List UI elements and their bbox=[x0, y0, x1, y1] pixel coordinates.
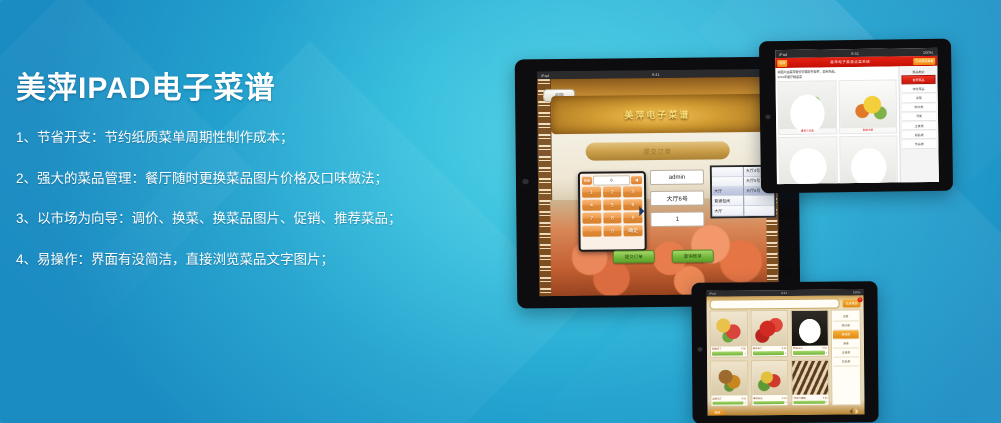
dish-price: ￥20 bbox=[822, 395, 827, 399]
keypad-key[interactable]: 7 bbox=[582, 213, 601, 224]
view-ordered-button[interactable]: 已点菜品查看 bbox=[913, 57, 935, 64]
home-button-icon[interactable] bbox=[765, 113, 771, 119]
login-fields: admin 大厅6号 1 bbox=[650, 170, 705, 234]
dish-name: 青椒肉丝 bbox=[753, 396, 763, 400]
backspace-icon[interactable]: ◀ bbox=[631, 176, 642, 184]
tablet-device-main: iPad 9:41 100% 返回 美萍电子菜谱 提交订单 bbox=[515, 57, 801, 309]
bottom-right-tablet-screen: iPad 9:41 100% 已点菜品 5 bbox=[706, 289, 864, 415]
promo-banner: 美萍IPAD电子菜谱 1、节省开支：节约纸质菜单周期性制作成本； 2、强大的菜品… bbox=[0, 0, 1001, 423]
dish-actions: 1 bbox=[792, 350, 828, 355]
add-to-cart-button[interactable] bbox=[712, 352, 743, 356]
dish-card[interactable]: 香煎三文鱼 bbox=[778, 80, 837, 134]
dish-qty: 1 bbox=[785, 351, 786, 354]
dish-card[interactable]: 精品点心 ￥16 1 bbox=[791, 310, 829, 357]
category-item-recommended[interactable]: 推荐菜品 bbox=[901, 75, 935, 85]
dish-card[interactable]: 巧克力蛋糕 ￥20 1 bbox=[791, 359, 829, 406]
dish-qty: 1 bbox=[826, 401, 827, 404]
dish-card[interactable]: 红豆沙布丁 bbox=[778, 136, 837, 184]
dish-grid: 本图片由美萍餐饮管理软件提供，最新热品。 2012年餐厅精品菜 香煎三文鱼 彩椒… bbox=[775, 66, 900, 184]
keypad-key[interactable]: 0 bbox=[603, 225, 622, 236]
checkout-button[interactable]: 结账 bbox=[710, 410, 724, 416]
dish-image bbox=[752, 360, 788, 395]
dish-image bbox=[779, 81, 836, 133]
category-sidebar: 菜品类别 推荐菜品 特色菜品 凉菜 热炒类 汤类 主食类 甜品类 饮品类 bbox=[898, 66, 939, 184]
status-time: 9:41 bbox=[781, 291, 787, 295]
page-title: 美萍IPAD电子菜谱 bbox=[16, 72, 486, 105]
category-item[interactable]: 热炒类 bbox=[833, 321, 859, 330]
dish-name: 辣子鸡丁 bbox=[753, 346, 763, 350]
status-battery: 100% bbox=[923, 49, 933, 54]
dish-image bbox=[839, 80, 896, 132]
category-item[interactable]: 饮品类 bbox=[833, 357, 859, 366]
dish-qty: 1 bbox=[745, 401, 746, 404]
category-item-active[interactable]: 推荐菜 bbox=[833, 330, 859, 339]
category-item[interactable]: 饮品类 bbox=[902, 140, 936, 149]
status-carrier: iPad bbox=[779, 51, 787, 56]
dropdown-cell[interactable] bbox=[712, 167, 743, 177]
status-battery: 100% bbox=[853, 290, 861, 294]
user-field[interactable]: admin bbox=[650, 170, 704, 186]
category-item[interactable]: 汤类 bbox=[902, 113, 936, 122]
add-to-cart-button[interactable] bbox=[712, 401, 743, 405]
dish-card[interactable]: 青椒肉丝 ￥24 1 bbox=[751, 359, 789, 406]
dish-name: 彩椒牛柳 bbox=[840, 127, 897, 133]
app-title: 美萍电子菜谱 bbox=[624, 107, 690, 121]
submit-order-button[interactable]: 提交订单 bbox=[613, 250, 655, 263]
dish-name: 巧克力蛋糕 bbox=[794, 395, 806, 399]
dish-actions: 1 bbox=[752, 400, 788, 405]
feature-bullet-3: 3、以市场为向导：调价、换菜、换菜品图片、促销、推荐菜品； bbox=[16, 212, 486, 226]
dish-price: ￥16 bbox=[822, 346, 827, 350]
feature-bullet-2: 2、强大的菜品管理：餐厅随时更换菜品图片价格及口味做法； bbox=[16, 172, 486, 186]
status-carrier: iPad bbox=[709, 292, 715, 296]
category-item[interactable]: 热炒类 bbox=[902, 103, 936, 112]
home-button-icon[interactable] bbox=[522, 177, 529, 184]
keypad-key[interactable]: 3 bbox=[623, 186, 642, 197]
keypad-key[interactable]: 2 bbox=[603, 186, 622, 197]
sub-title: 提交订单 bbox=[644, 146, 672, 155]
keypad-grid: 1 2 3 4 5 6 7 8 9 · 0 确定 bbox=[582, 186, 643, 237]
table-field[interactable]: 大厅6号 bbox=[650, 191, 704, 207]
dish-actions: 1 bbox=[711, 351, 747, 356]
dish-price: ￥28 bbox=[741, 346, 746, 350]
dish-qty: 1 bbox=[785, 401, 786, 404]
status-time: 9:41 bbox=[652, 71, 660, 76]
dropdown-area-column: 大厅 普通包间 大厅 bbox=[712, 167, 744, 216]
category-item[interactable]: 特色菜品 bbox=[902, 85, 936, 94]
dish-card[interactable]: 辣子鸡丁 ￥32 1 bbox=[750, 310, 788, 357]
bottom-toolbar: 结账 bbox=[710, 407, 861, 415]
feature-bullet-4: 4、易操作：界面有没简洁，直接浏览菜品文字图片； bbox=[16, 253, 486, 267]
cart-count-badge: 5 bbox=[858, 297, 863, 302]
main-tablet-screen: iPad 9:41 100% 返回 美萍电子菜谱 提交订单 bbox=[537, 69, 779, 297]
header-title: 美萍电子菜谱点菜系统 bbox=[787, 59, 913, 66]
keypad-value[interactable]: 6 bbox=[593, 175, 630, 185]
dish-card[interactable]: 宫保鸡丁 ￥26 1 bbox=[710, 360, 748, 407]
keypad-key[interactable]: 8 bbox=[603, 212, 622, 223]
dropdown-cell[interactable]: 普通包间 bbox=[712, 196, 743, 206]
add-to-cart-button[interactable] bbox=[794, 400, 825, 404]
dropdown-cell[interactable] bbox=[712, 177, 743, 187]
action-buttons: 提交订单 查询账单 bbox=[613, 249, 723, 263]
promo-copy: 美萍IPAD电子菜谱 1、节省开支：节约纸质菜单周期性制作成本； 2、强大的菜品… bbox=[16, 72, 486, 293]
top-right-tablet-screen: iPad 9:41 100% 返回 美萍电子菜谱点菜系统 已点菜品查看 本图片由… bbox=[775, 48, 939, 184]
promo-note: 本图片由美萍餐饮管理软件提供，最新热品。 2012年餐厅精品菜 bbox=[777, 68, 896, 79]
keypad-key-confirm[interactable]: 确定 bbox=[624, 225, 643, 236]
promo-note-line2: 2012年餐厅精品菜 bbox=[777, 73, 896, 79]
menu-body: 本图片由美萍餐饮管理软件提供，最新热品。 2012年餐厅精品菜 香煎三文鱼 彩椒… bbox=[775, 66, 939, 184]
category-item[interactable]: 主食类 bbox=[833, 348, 859, 357]
tablet-device-bottom-right: iPad 9:41 100% 已点菜品 5 bbox=[691, 281, 878, 423]
order-login-app: 返回 美萍电子菜谱 提交订单 数量 6 ◀ 1 bbox=[537, 77, 779, 297]
category-item[interactable]: 凉菜 bbox=[902, 94, 936, 103]
dish-price: ￥32 bbox=[781, 346, 786, 350]
dish-image bbox=[711, 361, 747, 396]
dish-actions: 1 bbox=[752, 350, 788, 355]
category-sidebar: 凉菜 热炒类 推荐菜 汤类 主食类 饮品类 bbox=[831, 309, 862, 405]
keypad-key[interactable]: 4 bbox=[582, 200, 601, 211]
dish-card[interactable]: 水果沙拉 bbox=[839, 135, 898, 184]
add-to-cart-button[interactable] bbox=[753, 401, 784, 405]
search-input[interactable] bbox=[710, 298, 840, 309]
dish-card[interactable]: 咖喱鸡丁 ￥28 1 bbox=[710, 310, 748, 357]
prev-page-icon[interactable] bbox=[846, 408, 852, 414]
dish-image bbox=[792, 360, 828, 395]
keypad-tag: 数量 bbox=[582, 176, 592, 184]
dish-qty: 1 bbox=[826, 351, 827, 354]
dish-image bbox=[792, 311, 828, 346]
dish-actions: 1 bbox=[711, 400, 747, 405]
cart-button[interactable]: 已点菜品 5 bbox=[843, 299, 861, 307]
dish-name: 香煎三文鱼 bbox=[779, 128, 836, 134]
category-item[interactable]: 甜品类 bbox=[902, 131, 936, 140]
dish-name: 水果沙拉 bbox=[840, 182, 897, 184]
dish-grid: 咖喱鸡丁 ￥28 1 辣子鸡丁 ￥3 bbox=[710, 310, 830, 407]
dish-price: ￥24 bbox=[782, 395, 787, 399]
pagination-controls bbox=[846, 408, 861, 414]
next-page-icon[interactable] bbox=[855, 408, 861, 414]
top-toolbar: 已点菜品 5 bbox=[710, 298, 861, 308]
dish-name: 咖喱鸡丁 bbox=[712, 347, 722, 351]
home-button-icon[interactable] bbox=[697, 346, 703, 352]
browser-body: 咖喱鸡丁 ￥28 1 辣子鸡丁 ￥3 bbox=[710, 309, 862, 406]
dish-name: 宫保鸡丁 bbox=[712, 396, 722, 400]
dropdown-cell[interactable] bbox=[743, 196, 774, 206]
dish-name: 红豆沙布丁 bbox=[780, 183, 837, 184]
dish-card[interactable]: 彩椒牛柳 bbox=[838, 79, 897, 133]
dropdown-cell-selected[interactable]: 大厅 bbox=[712, 187, 743, 197]
category-item[interactable]: 汤类 bbox=[833, 339, 859, 348]
numeric-keypad[interactable]: 数量 6 ◀ 1 2 3 4 5 6 7 8 9 · bbox=[578, 171, 647, 252]
dish-price: ￥26 bbox=[741, 396, 746, 400]
dish-qty: 1 bbox=[744, 352, 745, 355]
keypad-key[interactable]: 5 bbox=[603, 199, 622, 210]
dish-image bbox=[751, 311, 787, 346]
count-field[interactable]: 1 bbox=[650, 212, 704, 228]
status-time: 9:41 bbox=[851, 50, 859, 55]
header-back-button[interactable]: 返回 bbox=[777, 59, 787, 66]
keypad-key[interactable]: 1 bbox=[582, 187, 601, 198]
add-to-cart-button[interactable] bbox=[753, 351, 784, 355]
status-carrier: iPad bbox=[541, 73, 549, 78]
dropdown-cell[interactable]: 大厅 bbox=[712, 206, 743, 216]
add-to-cart-button[interactable] bbox=[793, 351, 824, 355]
dish-image bbox=[711, 311, 747, 346]
query-bill-button[interactable]: 查询账单 bbox=[672, 249, 714, 262]
dish-browser-app: 已点菜品 5 咖喱鸡丁 ￥28 bbox=[707, 295, 865, 415]
dish-image bbox=[779, 137, 836, 184]
category-item[interactable]: 主食类 bbox=[902, 122, 936, 131]
sub-title-banner: 提交订单 bbox=[586, 141, 730, 161]
dish-actions: 1 bbox=[793, 400, 829, 405]
dish-name: 精品点心 bbox=[793, 346, 803, 350]
category-item[interactable]: 凉菜 bbox=[833, 312, 859, 321]
feature-bullet-1: 1、节省开支：节约纸质菜单周期性制作成本； bbox=[16, 131, 486, 145]
cart-button-label: 已点菜品 bbox=[846, 301, 858, 305]
pointer-arrow-icon bbox=[639, 206, 649, 216]
keypad-display: 数量 6 ◀ bbox=[582, 175, 642, 185]
keypad-key[interactable]: · bbox=[582, 226, 601, 237]
tablet-device-top-right: iPad 9:41 100% 返回 美萍电子菜谱点菜系统 已点菜品查看 本图片由… bbox=[759, 39, 953, 194]
app-title-banner: 美萍电子菜谱 bbox=[551, 94, 763, 134]
dish-image bbox=[840, 136, 897, 184]
dropdown-cell[interactable] bbox=[743, 206, 774, 216]
